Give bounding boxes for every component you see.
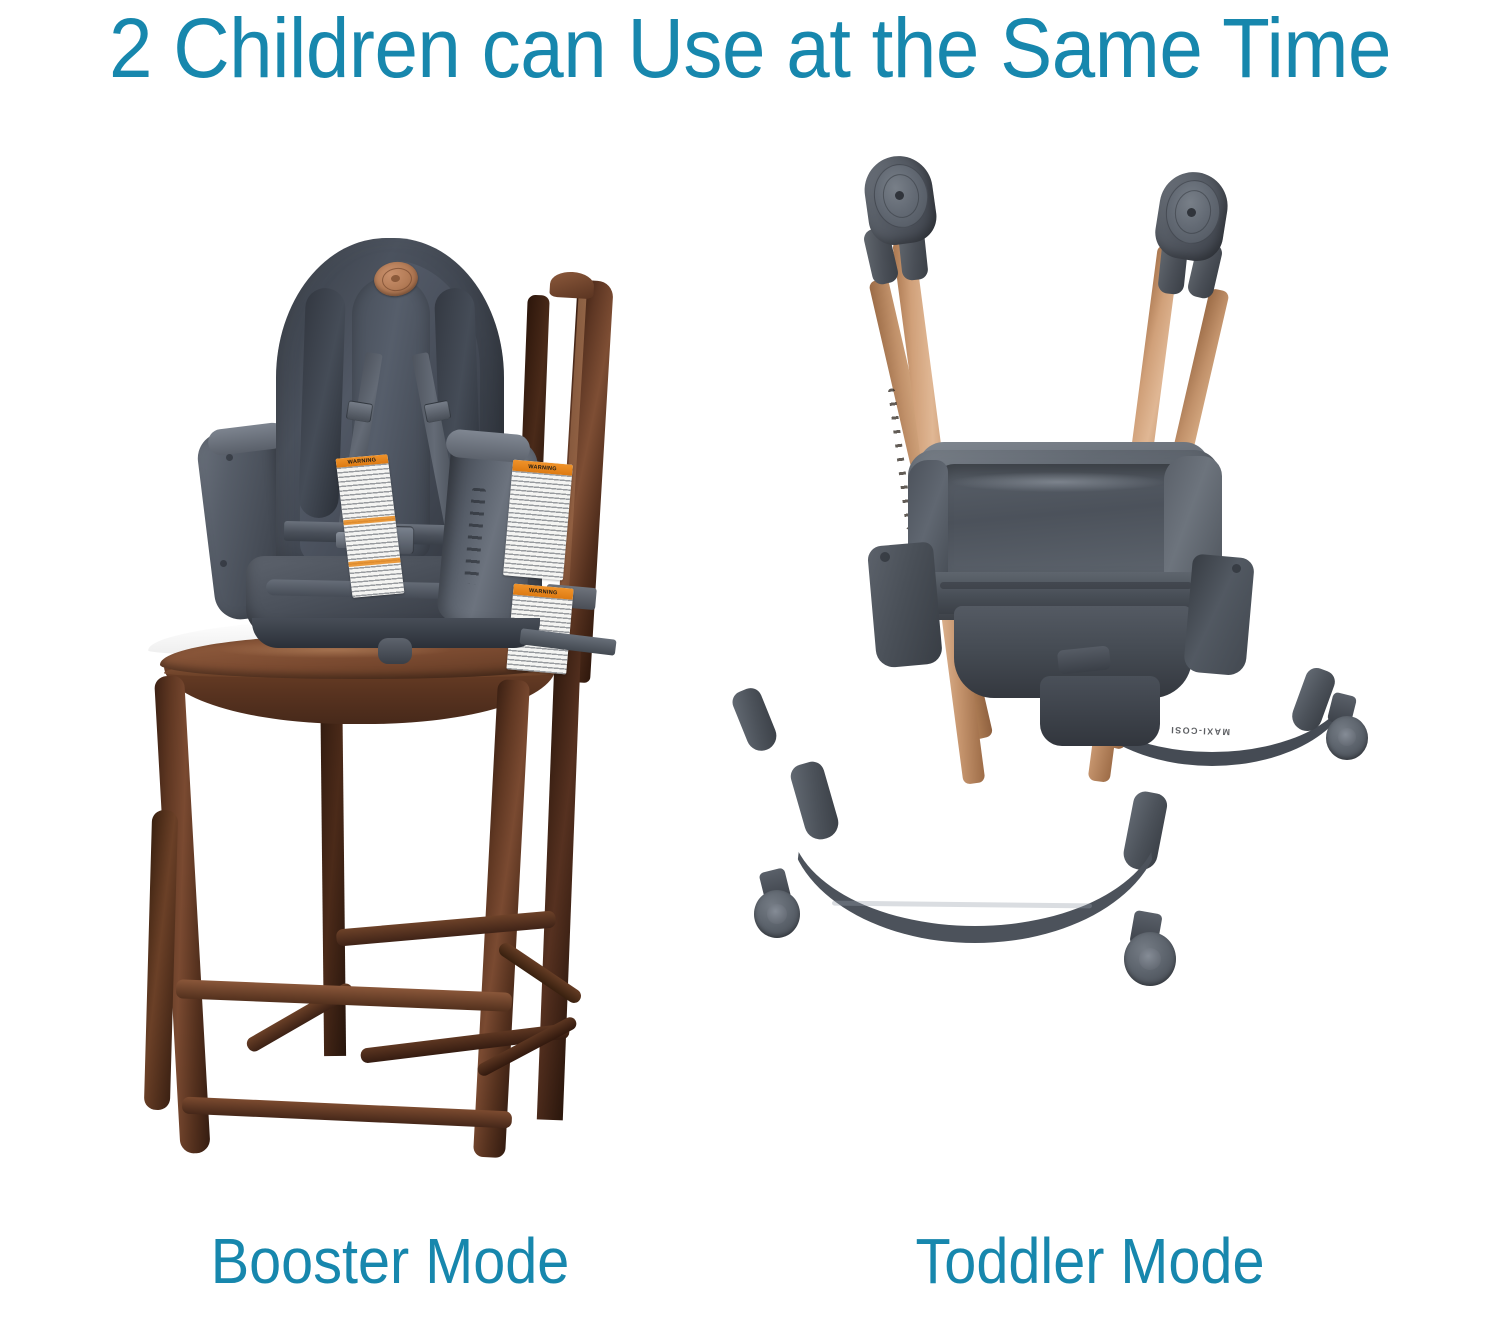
stool-leg-front-left-lower bbox=[144, 810, 178, 1111]
booster-attach-knob bbox=[378, 638, 412, 664]
toddler-seat-assembly: MAXI-COSI bbox=[740, 120, 1440, 1220]
page-title: 2 Children can Use at the Same Time bbox=[53, 2, 1448, 94]
booster-screw-icon bbox=[226, 454, 233, 461]
warning-label-body bbox=[503, 471, 572, 581]
stool-stretcher-back bbox=[336, 910, 557, 946]
caster-hub bbox=[767, 904, 787, 924]
stool-footrest-lower bbox=[182, 1097, 512, 1129]
caster-wheel-back-right bbox=[1326, 716, 1368, 760]
caption-booster-mode: Booster Mode bbox=[93, 1225, 687, 1297]
caster-hub bbox=[1338, 728, 1356, 746]
product-panel-toddler: MAXI-COSI bbox=[740, 120, 1440, 1220]
frame-clamp-left bbox=[867, 541, 943, 668]
toddler-seat-groove bbox=[940, 582, 1192, 589]
booster-screw-icon bbox=[220, 560, 227, 567]
stool-leg-back-right bbox=[537, 640, 581, 1121]
toddler-seat-underbody-lower bbox=[1040, 676, 1160, 746]
warning-label-text: WARNING bbox=[528, 463, 557, 471]
toddler-seat-highlight bbox=[952, 472, 1164, 492]
caster-wheel-front-left bbox=[754, 890, 800, 938]
warning-label-text: WARNING bbox=[529, 587, 558, 595]
frame-foot-back-left bbox=[729, 685, 781, 756]
caster-wheel-front-right bbox=[1124, 932, 1176, 986]
booster-seat: WARNING WARNING WARNING bbox=[190, 230, 590, 650]
clamp-screw-icon bbox=[880, 552, 890, 562]
hinge-pin-icon bbox=[895, 191, 904, 200]
hinge-pin-icon bbox=[1187, 208, 1196, 217]
clamp-screw-icon bbox=[1232, 564, 1241, 573]
toddler-scene: MAXI-COSI bbox=[740, 120, 1440, 1220]
harness-slider-left bbox=[346, 400, 374, 423]
caster-hub bbox=[1139, 948, 1161, 970]
booster-scene: WARNING WARNING WARNING bbox=[60, 120, 720, 1220]
caption-toddler-mode: Toddler Mode bbox=[775, 1225, 1405, 1297]
frame-clamp-right bbox=[1183, 554, 1255, 677]
product-panel-booster: WARNING WARNING WARNING bbox=[60, 120, 720, 1220]
warning-label: WARNING bbox=[503, 460, 573, 581]
front-stabilizer-bar bbox=[788, 820, 1162, 943]
